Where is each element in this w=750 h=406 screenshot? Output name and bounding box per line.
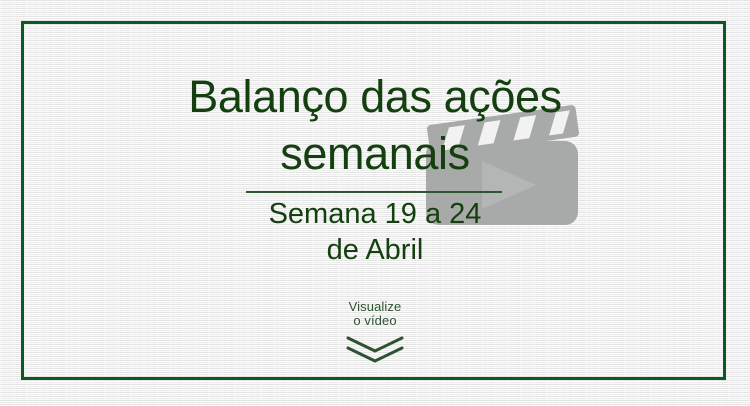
slide-canvas: Balanço das açõessemanais Semana 19 a 24… bbox=[0, 0, 750, 406]
decorative-frame-border bbox=[21, 21, 726, 380]
